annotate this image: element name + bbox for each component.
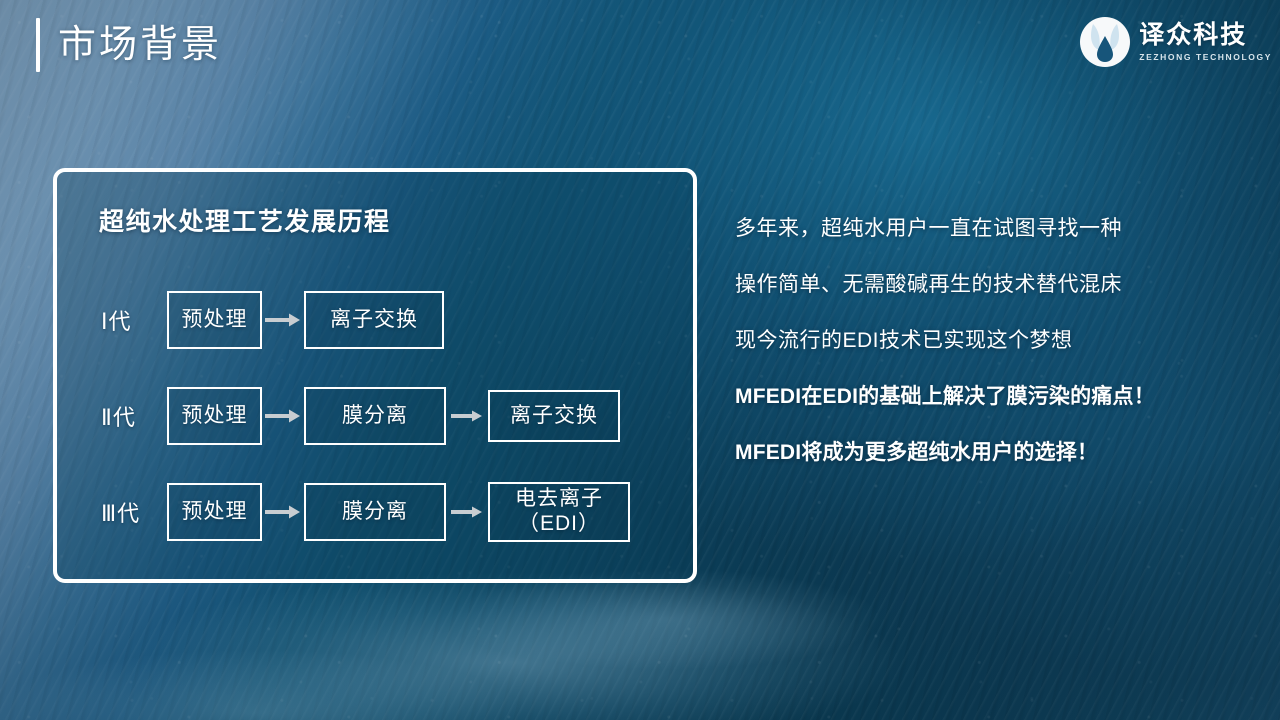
process-node: 预处理 bbox=[167, 291, 262, 349]
body-text-line-emphasis: MFEDI将成为更多超纯水用户的选择！ bbox=[735, 442, 1255, 463]
process-node-edi-line1: 电去离子 bbox=[515, 487, 603, 512]
arrow-right-icon bbox=[262, 313, 304, 327]
flow-row: Ⅱ代 预处理 膜分离 离子交换 bbox=[57, 368, 693, 464]
process-node: 膜分离 bbox=[304, 387, 446, 445]
right-text-column: 多年来，超纯水用户一直在试图寻找一种 操作简单、无需酸碱再生的技术替代混床 现今… bbox=[735, 218, 1255, 463]
page-title: 市场背景 bbox=[36, 18, 222, 72]
process-node: 预处理 bbox=[167, 387, 262, 445]
water-drop-logo-icon bbox=[1079, 14, 1131, 70]
generation-label: Ⅲ代 bbox=[101, 496, 167, 528]
brand-name-cn: 译众科技 bbox=[1139, 22, 1272, 48]
process-node-edi-line2: （EDI） bbox=[518, 512, 600, 537]
brand-logo: 译众科技 ZEZHONG TECHNOLOGY bbox=[1079, 14, 1272, 70]
body-text-line: 操作简单、无需酸碱再生的技术替代混床 bbox=[735, 274, 1255, 295]
process-node: 离子交换 bbox=[304, 291, 444, 349]
slide-canvas: 市场背景 译众科技 ZEZHONG TECHNOLOGY 超纯水处理工艺发展历程… bbox=[0, 0, 1280, 720]
process-node: 离子交换 bbox=[488, 390, 620, 442]
flow-row: Ⅰ代 预处理 离子交换 bbox=[57, 272, 693, 368]
arrow-right-icon bbox=[262, 409, 304, 423]
process-node-edi: 电去离子 （EDI） bbox=[488, 482, 630, 542]
process-node: 膜分离 bbox=[304, 483, 446, 541]
process-evolution-panel: 超纯水处理工艺发展历程 Ⅰ代 预处理 离子交换 Ⅱ代 预处理 bbox=[53, 168, 697, 583]
generation-label: Ⅱ代 bbox=[101, 400, 167, 432]
flow-rows: Ⅰ代 预处理 离子交换 Ⅱ代 预处理 膜分离 bbox=[57, 272, 693, 560]
body-text-line-emphasis: MFEDI在EDI的基础上解决了膜污染的痛点！ bbox=[735, 386, 1255, 407]
process-node: 预处理 bbox=[167, 483, 262, 541]
arrow-right-icon bbox=[446, 506, 488, 518]
title-accent-bar bbox=[36, 18, 40, 72]
brand-logo-text: 译众科技 ZEZHONG TECHNOLOGY bbox=[1139, 22, 1272, 61]
arrow-right-icon bbox=[446, 410, 488, 422]
body-text-line: 现今流行的EDI技术已实现这个梦想 bbox=[735, 330, 1255, 351]
panel-title: 超纯水处理工艺发展历程 bbox=[99, 202, 391, 238]
brand-name-en: ZEZHONG TECHNOLOGY bbox=[1139, 52, 1272, 62]
body-text-line: 多年来，超纯水用户一直在试图寻找一种 bbox=[735, 218, 1255, 239]
generation-label: Ⅰ代 bbox=[101, 304, 167, 336]
page-title-text: 市场背景 bbox=[58, 26, 222, 64]
arrow-right-icon bbox=[262, 505, 304, 519]
flow-row: Ⅲ代 预处理 膜分离 电去离子 （EDI） bbox=[57, 464, 693, 560]
